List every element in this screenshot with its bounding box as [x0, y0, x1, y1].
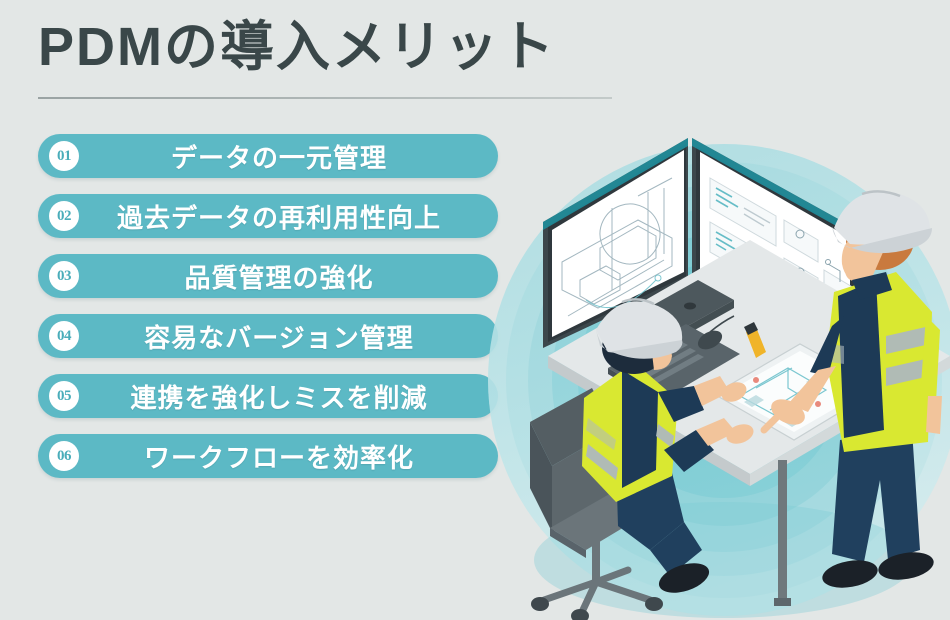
benefit-number-badge: 05 [49, 381, 79, 411]
benefits-list: 01 データの一元管理 02 過去データの再利用性向上 03 品質管理の強化 0… [38, 134, 498, 494]
benefit-label: 連携を強化しミスを削減 [38, 378, 498, 415]
title-divider [38, 97, 612, 99]
benefit-number-badge: 06 [49, 441, 79, 471]
illustration-engineers-workstation [488, 130, 950, 620]
benefit-item-06[interactable]: 06 ワークフローを効率化 [38, 434, 498, 478]
benefit-label: 品質管理の強化 [38, 258, 498, 295]
infographic-canvas: PDMの導入メリット 01 データの一元管理 02 過去データの再利用性向上 0… [0, 0, 950, 620]
benefit-item-03[interactable]: 03 品質管理の強化 [38, 254, 498, 298]
benefit-number-badge: 01 [49, 141, 79, 171]
benefit-item-02[interactable]: 02 過去データの再利用性向上 [38, 194, 498, 238]
benefit-number-badge: 03 [49, 261, 79, 291]
benefit-label: ワークフローを効率化 [38, 438, 498, 475]
benefit-item-01[interactable]: 01 データの一元管理 [38, 134, 498, 178]
benefit-label: データの一元管理 [38, 138, 498, 175]
benefit-item-05[interactable]: 05 連携を強化しミスを削減 [38, 374, 498, 418]
benefit-label: 過去データの再利用性向上 [38, 198, 498, 235]
benefit-number-badge: 02 [49, 201, 79, 231]
benefit-number-badge: 04 [49, 321, 79, 351]
benefit-item-04[interactable]: 04 容易なバージョン管理 [38, 314, 498, 358]
benefit-label: 容易なバージョン管理 [38, 318, 498, 355]
page-title: PDMの導入メリット [38, 16, 556, 78]
